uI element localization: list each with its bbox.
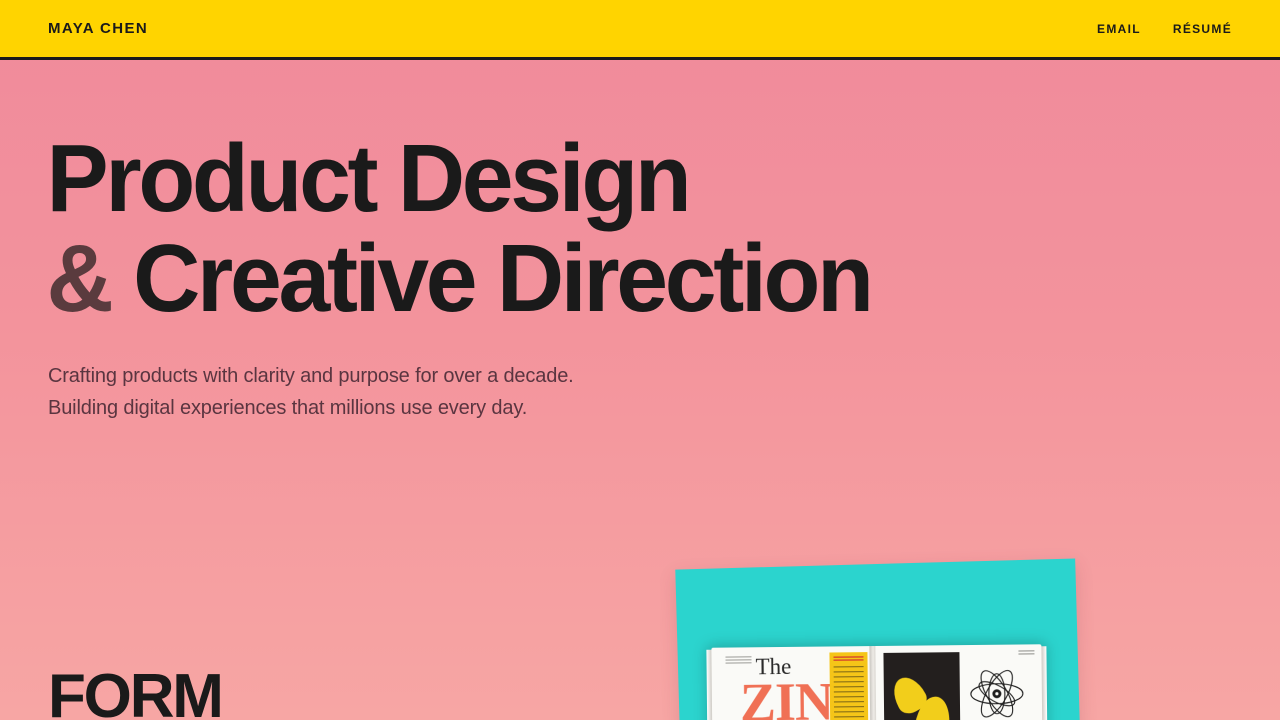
magazine-left-page: The ZIN [711, 646, 872, 720]
nav-link-email[interactable]: EMAIL [1097, 22, 1141, 36]
atom-diagram-icon [968, 666, 1027, 720]
page-root: MAYA CHEN EMAIL RÉSUMÉ Product Design & … [0, 0, 1280, 720]
folio-text-lines [1018, 650, 1034, 655]
kicker-text-lines [725, 656, 751, 663]
yellow-sidebar [829, 652, 868, 720]
brand-wordmark[interactable]: MAYA CHEN [48, 20, 148, 37]
site-header: MAYA CHEN EMAIL RÉSUMÉ [0, 0, 1280, 60]
hero-section: Product Design & Creative Direction Craf… [0, 60, 1280, 424]
subtitle-line-1: Crafting products with clarity and purpo… [48, 360, 1280, 392]
sidebar-heading-lines [833, 656, 863, 662]
black-illustration-panel [883, 652, 960, 720]
nav-link-resume[interactable]: RÉSUMÉ [1173, 22, 1232, 36]
headline-line-2-text: Creative Direction [133, 225, 871, 332]
subtitle-line-2: Building digital experiences that millio… [48, 392, 1280, 424]
headline-line-1: Product Design [47, 125, 689, 232]
sidebar-body-lines [834, 666, 865, 720]
magazine-right-page [875, 644, 1042, 720]
next-section-title: FORM [48, 666, 222, 720]
headline-line-2: & Creative Direction [47, 232, 1242, 326]
ampersand: & [47, 225, 111, 332]
hero-subtitle: Crafting products with clarity and purpo… [0, 360, 1280, 424]
main-navigation: EMAIL RÉSUMÉ [1097, 22, 1232, 36]
magazine-title: ZIN [740, 674, 834, 720]
open-magazine: The ZIN [711, 644, 1042, 720]
page-title: Product Design & Creative Direction [0, 132, 1242, 326]
hero-photo: The ZIN [660, 548, 1100, 720]
